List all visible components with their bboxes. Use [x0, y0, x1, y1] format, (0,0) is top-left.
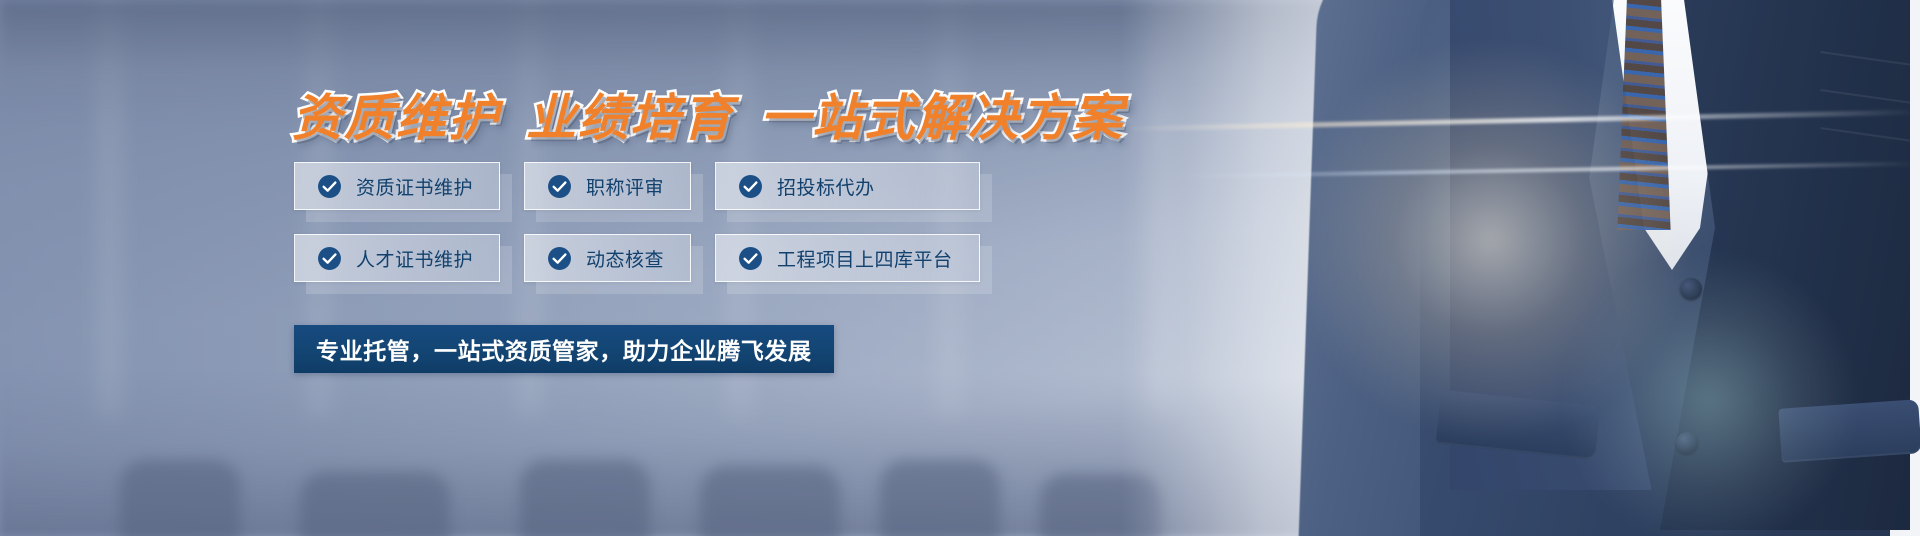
- feature-card-label: 人才证书维护: [356, 245, 473, 272]
- feature-card-bidding-agency[interactable]: 招投标代办: [715, 162, 980, 210]
- feature-card-grid: 资质证书维护 职称评审 招投标代办: [294, 162, 980, 282]
- tagline-text: 专业托管，一站式资质管家，助力企业腾飞发展: [316, 332, 812, 366]
- headline-segment-1: 资质维护: [292, 89, 500, 147]
- check-circle-icon: [547, 246, 572, 271]
- feature-card-qualification-certificate-maintenance[interactable]: 资质证书维护: [294, 162, 500, 210]
- jacket-button: [1680, 278, 1702, 300]
- banner-headline: 资质维护业绩培育一站式解决方案: [292, 78, 1124, 150]
- feature-card-dynamic-inspection[interactable]: 动态核查: [524, 234, 691, 282]
- headline-segment-3: 一站式解决方案: [760, 89, 1124, 147]
- check-circle-icon: [317, 246, 342, 271]
- headline-segment-2: 业绩培育: [526, 89, 734, 147]
- promo-banner: 资质维护业绩培育一站式解决方案 资质证书维护 职称评审: [0, 0, 1920, 536]
- feature-card-label: 招投标代办: [777, 173, 875, 200]
- check-circle-icon: [317, 174, 342, 199]
- feature-card-four-database-platform[interactable]: 工程项目上四库平台: [715, 234, 980, 282]
- jacket-pocket: [1778, 399, 1920, 463]
- feature-card-label: 工程项目上四库平台: [777, 245, 953, 272]
- check-circle-icon: [738, 246, 763, 271]
- banner-content: 资质维护业绩培育一站式解决方案 资质证书维护 职称评审: [0, 0, 1100, 536]
- feature-card-title-evaluation[interactable]: 职称评审: [524, 162, 691, 210]
- tagline-strip: 专业托管，一站式资质管家，助力企业腾飞发展: [294, 325, 834, 373]
- feature-card-label: 动态核查: [586, 245, 664, 272]
- check-circle-icon: [738, 174, 763, 199]
- check-circle-icon: [547, 174, 572, 199]
- feature-card-talent-certificate-maintenance[interactable]: 人才证书维护: [294, 234, 500, 282]
- feature-card-label: 资质证书维护: [356, 173, 473, 200]
- businessman-photo: [1120, 0, 1920, 536]
- jacket-button: [1676, 432, 1698, 454]
- feature-card-label: 职称评审: [586, 173, 664, 200]
